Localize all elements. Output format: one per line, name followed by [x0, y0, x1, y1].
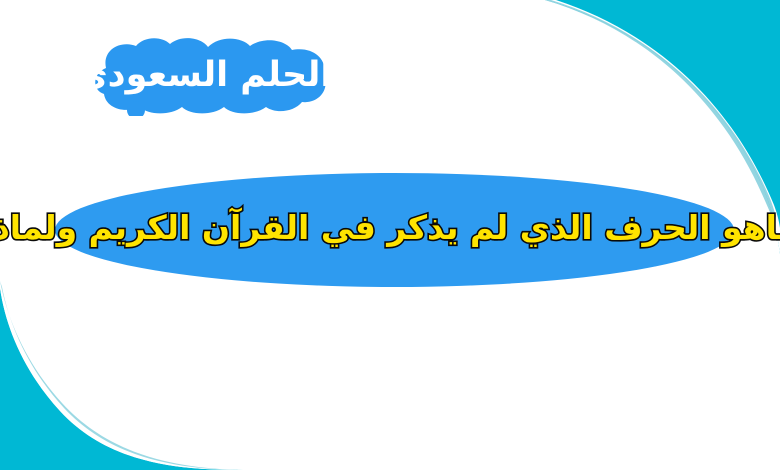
poster-canvas: الحلم السعودي ماهو الحرف الذي لم يذكر في…: [0, 0, 780, 470]
teal-corner-swoosh-bottom-left: [0, 274, 250, 470]
headline-title: ماهو الحرف الذي لم يذكر في القرآن الكريم…: [40, 173, 740, 287]
brand-logo[interactable]: الحلم السعودي: [78, 38, 330, 116]
brand-logo-label: الحلم السعودي: [78, 38, 330, 116]
